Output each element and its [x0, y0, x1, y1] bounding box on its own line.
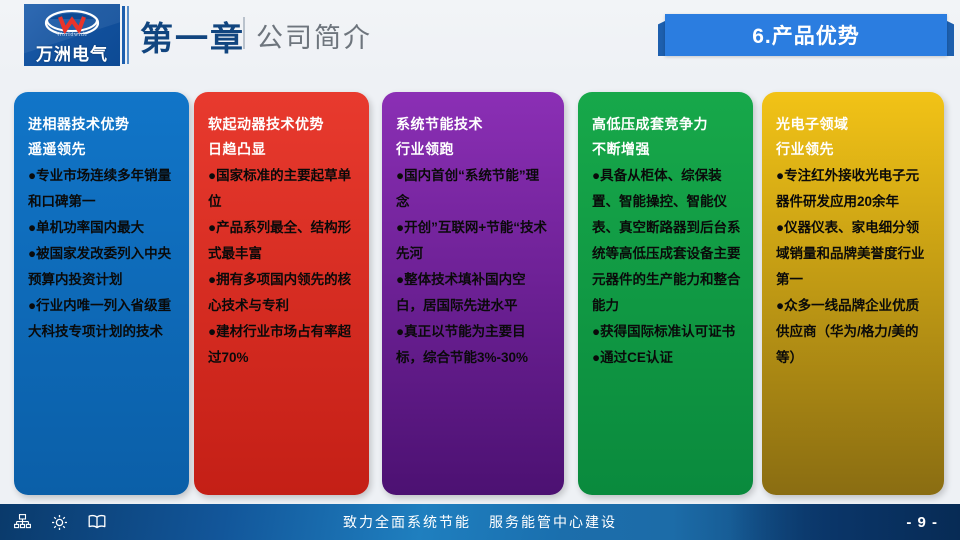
card-bullet: ●真正以节能为主要目标，综合节能3%-30%	[396, 319, 552, 371]
advantage-card[interactable]: 系统节能技术 行业领跑 ●国内首创“系统节能”理念 ●开创”互联网+节能“技术先…	[382, 92, 564, 495]
card-body: ●国家标准的主要起草单位 ●产品系列最全、结构形式最丰富 ●拥有多项国内领先的核…	[208, 163, 357, 371]
w-shield-icon	[44, 10, 100, 34]
logo-latin-name: Worldwide	[24, 32, 120, 38]
card-title-line1: 光电子领域	[776, 112, 932, 137]
card-bullet: ●具备从柜体、综保装置、智能操控、智能仪表、真空断路器到后台系统等高低压成套设备…	[592, 163, 741, 319]
card-body: ●专注红外接收光电子元器件研发应用20余年 ●仪器仪表、家电细分领域销量和品牌美…	[776, 163, 932, 371]
card-bullet: ●众多一线品牌企业优质供应商（华为/格力/美的等）	[776, 293, 932, 371]
footer-slogan-right: 服务能管中心建设	[489, 512, 617, 532]
chapter-subtitle: 公司简介	[256, 16, 372, 55]
card-bullet: ●通过CE认证	[592, 345, 741, 371]
section-banner-title: 6.产品优势	[665, 14, 947, 56]
card-title-line1: 高低压成套竞争力	[592, 112, 741, 137]
chapter-separator	[243, 17, 245, 49]
card-title-line2: 行业领先	[776, 137, 932, 162]
advantage-card[interactable]: 光电子领域 行业领先 ●专注红外接收光电子元器件研发应用20余年 ●仪器仪表、家…	[762, 92, 944, 495]
footer-slogan-left: 致力全面系统节能	[343, 512, 471, 532]
chapter-title: 第一章	[140, 12, 245, 60]
card-title-line2: 遥遥领先	[28, 137, 177, 162]
advantage-card[interactable]: 高低压成套竞争力 不断增强 ●具备从柜体、综保装置、智能操控、智能仪表、真空断路…	[578, 92, 753, 495]
slide-header: Worldwide 万洲电气 第一章 公司简介 6.产品优势	[0, 0, 960, 78]
card-title-line1: 进相器技术优势	[28, 112, 177, 137]
card-bullet: ●单机功率国内最大	[28, 215, 177, 241]
card-title: 高低压成套竞争力 不断增强	[592, 112, 741, 162]
company-logo: Worldwide 万洲电气	[24, 4, 120, 66]
advantage-cards: 进相器技术优势 遥遥领先 ●专业市场连续多年销量和口碑第一 ●单机功率国内最大 …	[0, 92, 960, 504]
footer-slogan: 致力全面系统节能 服务能管中心建设	[0, 504, 960, 540]
card-title-line2: 日趋凸显	[208, 137, 357, 162]
card-body: ●具备从柜体、综保装置、智能操控、智能仪表、真空断路器到后台系统等高低压成套设备…	[592, 163, 741, 371]
card-title: 系统节能技术 行业领跑	[396, 112, 552, 162]
card-title-line1: 软起动器技术优势	[208, 112, 357, 137]
card-title-line2: 行业领跑	[396, 137, 552, 162]
logo-chinese-name: 万洲电气	[24, 40, 120, 65]
card-bullet: ●仪器仪表、家电细分领域销量和品牌美誉度行业第一	[776, 215, 932, 293]
page-number: - 9 -	[906, 504, 938, 540]
advantage-card[interactable]: 进相器技术优势 遥遥领先 ●专业市场连续多年销量和口碑第一 ●单机功率国内最大 …	[14, 92, 189, 495]
card-bullet: ●整体技术填补国内空白，居国际先进水平	[396, 267, 552, 319]
card-title: 进相器技术优势 遥遥领先	[28, 112, 177, 162]
card-bullet: ●行业内唯一列入省级重大科技专项计划的技术	[28, 293, 177, 345]
card-body: ●国内首创“系统节能”理念 ●开创”互联网+节能“技术先河 ●整体技术填补国内空…	[396, 163, 552, 371]
card-bullet: ●开创”互联网+节能“技术先河	[396, 215, 552, 267]
advantage-card[interactable]: 软起动器技术优势 日趋凸显 ●国家标准的主要起草单位 ●产品系列最全、结构形式最…	[194, 92, 369, 495]
card-title-line1: 系统节能技术	[396, 112, 552, 137]
card-title-line2: 不断增强	[592, 137, 741, 162]
card-bullet: ●拥有多项国内领先的核心技术与专利	[208, 267, 357, 319]
card-bullet: ●国内首创“系统节能”理念	[396, 163, 552, 215]
card-body: ●专业市场连续多年销量和口碑第一 ●单机功率国内最大 ●被国家发改委列入中央预算…	[28, 163, 177, 345]
card-bullet: ●获得国际标准认可证书	[592, 319, 741, 345]
card-bullet: ●产品系列最全、结构形式最丰富	[208, 215, 357, 267]
header-divider	[122, 6, 130, 64]
card-bullet: ●专业市场连续多年销量和口碑第一	[28, 163, 177, 215]
card-title: 软起动器技术优势 日趋凸显	[208, 112, 357, 162]
slide-footer: 致力全面系统节能 服务能管中心建设 - 9 -	[0, 504, 960, 540]
card-bullet: ●建材行业市场占有率超过70%	[208, 319, 357, 371]
card-bullet: ●被国家发改委列入中央预算内投资计划	[28, 241, 177, 293]
card-bullet: ●国家标准的主要起草单位	[208, 163, 357, 215]
card-title: 光电子领域 行业领先	[776, 112, 932, 162]
card-bullet: ●专注红外接收光电子元器件研发应用20余年	[776, 163, 932, 215]
